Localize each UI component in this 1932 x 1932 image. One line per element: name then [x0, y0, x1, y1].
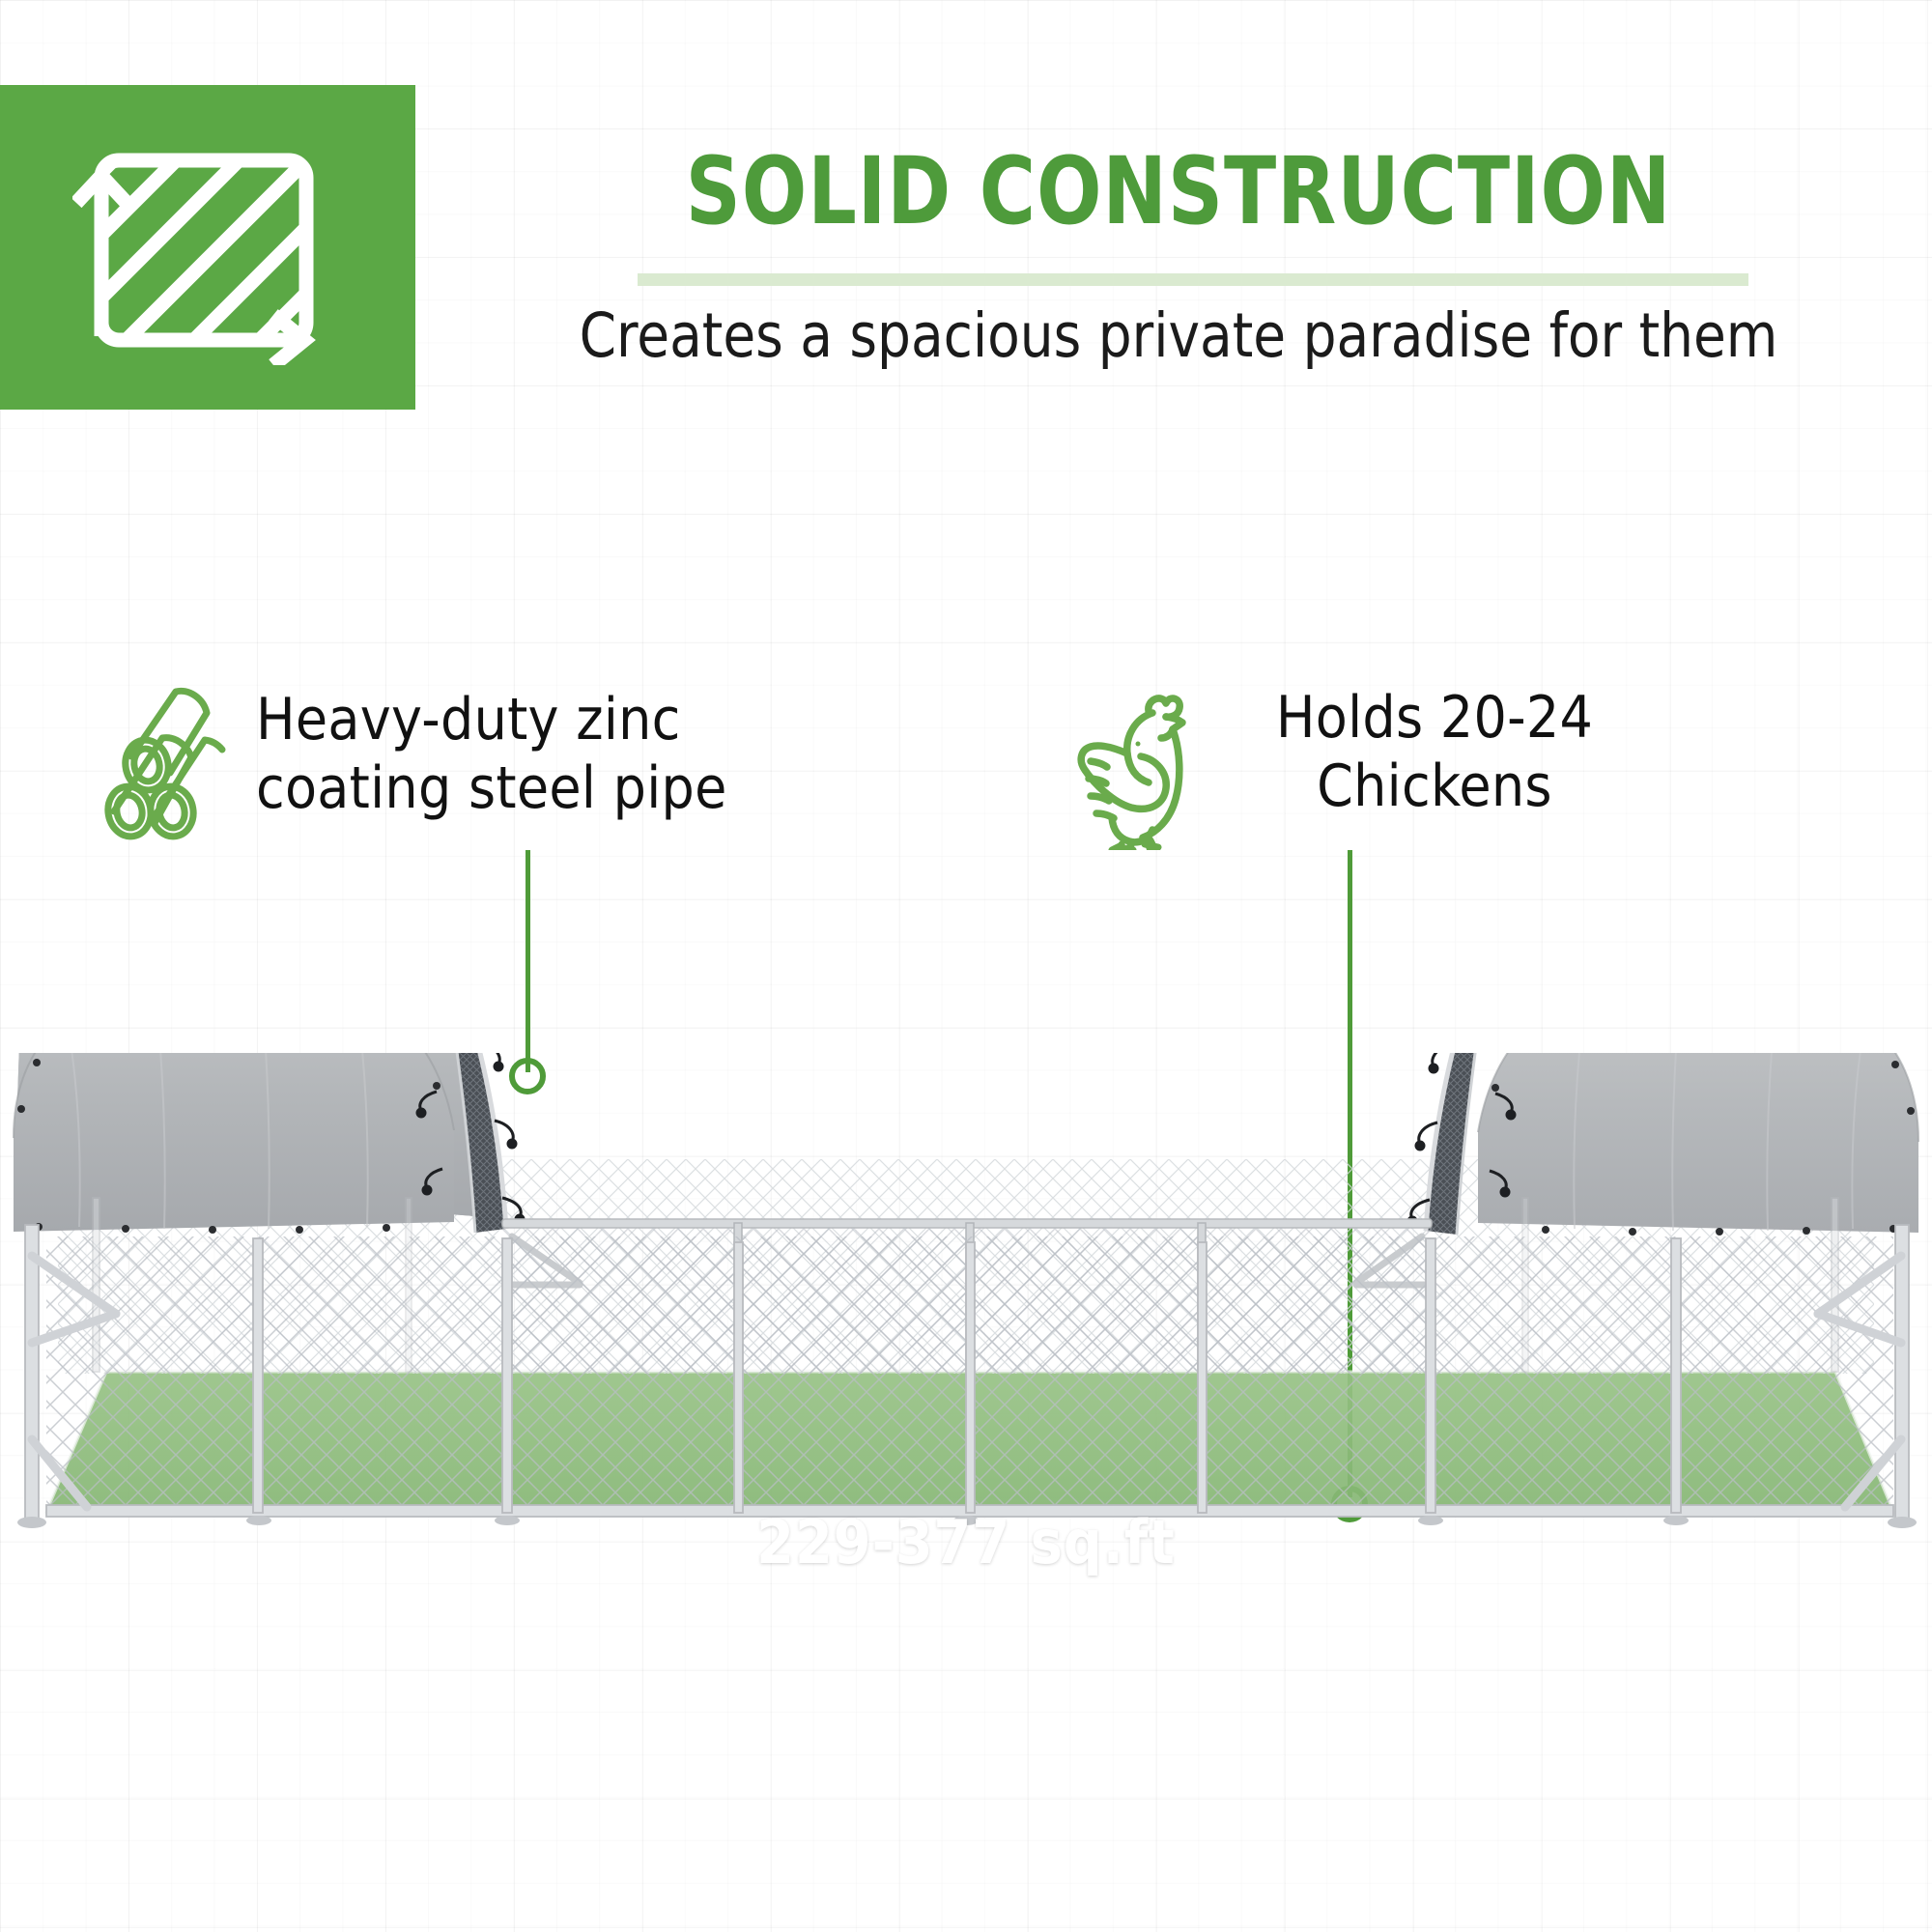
feature-item-steel-pipe: Heavy-duty zinc coating steel pipe	[87, 676, 782, 860]
callout-leader-line-steel-pipe	[526, 850, 530, 1072]
steel-pipes-icon	[87, 676, 241, 845]
feature-label-capacity: Holds 20-24 Chickens	[1227, 684, 1642, 821]
feature-item-capacity: Holds 20-24 Chickens	[1048, 676, 1724, 869]
coop-roof-left	[14, 1053, 483, 1234]
page-subtitle: Creates a spacious private paradise for …	[485, 301, 1872, 371]
coop-floor-area-label: 229-377 sq.ft	[580, 1507, 1352, 1577]
feature-badge	[0, 85, 415, 410]
coop-roof-right	[1478, 1053, 1918, 1236]
title-divider	[638, 273, 1748, 286]
feature-label-steel-pipe: Heavy-duty zinc coating steel pipe	[256, 686, 782, 823]
page-title: SOLID CONSTRUCTION	[654, 145, 1703, 238]
chicken-icon	[1048, 676, 1207, 855]
header: SOLID CONSTRUCTION Creates a spacious pr…	[0, 0, 1932, 425]
